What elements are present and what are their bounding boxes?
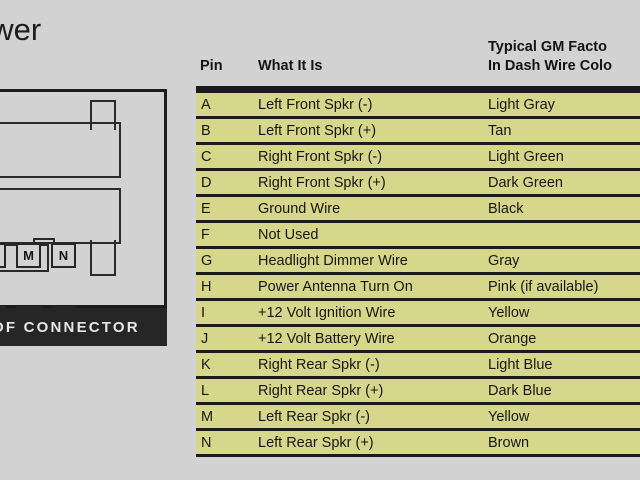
cell-wire-color: Light Blue xyxy=(488,355,553,376)
table-body: ALeft Front Spkr (-)Light GrayBLeft Fron… xyxy=(196,93,640,457)
cell-wire-color: Yellow xyxy=(488,407,529,428)
cell-what-it-is: Not Used xyxy=(258,225,318,246)
cell-wire-color: Tan xyxy=(488,121,511,142)
connector-body-bottom-outline xyxy=(0,188,121,244)
page-title: ewer xyxy=(0,12,41,48)
table-row: HPower Antenna Turn OnPink (if available… xyxy=(196,275,640,301)
column-header-what-it-is: What It Is xyxy=(258,57,322,76)
cell-what-it-is: Left Front Spkr (-) xyxy=(258,95,372,116)
table-row: DRight Front Spkr (+)Dark Green xyxy=(196,171,640,197)
connector-caption-text: OF CONNECTOR xyxy=(0,319,140,336)
cell-pin: C xyxy=(201,147,211,168)
cell-what-it-is: Right Rear Spkr (-) xyxy=(258,355,380,376)
cell-pin: F xyxy=(201,225,210,246)
cell-what-it-is: Left Rear Spkr (+) xyxy=(258,433,374,454)
cell-pin: J xyxy=(201,329,208,350)
column-header-pin: Pin xyxy=(200,57,223,76)
wire-color-table: Pin What It Is Typical GM Facto In Dash … xyxy=(196,30,640,457)
table-row: NLeft Rear Spkr (+)Brown xyxy=(196,431,640,457)
cell-what-it-is: Power Antenna Turn On xyxy=(258,277,413,298)
table-row: J+12 Volt Battery WireOrange xyxy=(196,327,640,353)
cell-pin: M xyxy=(201,407,213,428)
connector-pin-row-top: L M N xyxy=(0,243,76,268)
cell-what-it-is: Left Front Spkr (+) xyxy=(258,121,376,142)
header-divider-rule xyxy=(196,86,640,93)
table-row: GHeadlight Dimmer WireGray xyxy=(196,249,640,275)
connector-caption-bar: OF CONNECTOR xyxy=(0,308,167,346)
column-header-wire-color-line1: Typical GM Facto xyxy=(488,38,612,57)
cell-pin: L xyxy=(201,381,209,402)
cell-pin: K xyxy=(201,355,211,376)
cell-wire-color: Dark Blue xyxy=(488,381,552,402)
cell-what-it-is: Headlight Dimmer Wire xyxy=(258,251,408,272)
table-row: I+12 Volt Ignition WireYellow xyxy=(196,301,640,327)
table-row: EGround WireBlack xyxy=(196,197,640,223)
cell-what-it-is: +12 Volt Ignition Wire xyxy=(258,303,395,324)
table-row: ALeft Front Spkr (-)Light Gray xyxy=(196,93,640,119)
cell-wire-color: Pink (if available) xyxy=(488,277,598,298)
column-header-wire-color-line2: In Dash Wire Colo xyxy=(488,57,612,76)
pin-box-l: L xyxy=(0,243,6,268)
connector-notch-bottom xyxy=(90,240,116,276)
cell-pin: D xyxy=(201,173,211,194)
cell-wire-color: Black xyxy=(488,199,523,220)
cell-pin: N xyxy=(201,433,211,454)
cell-what-it-is: Left Rear Spkr (-) xyxy=(258,407,370,428)
table-row: CRight Front Spkr (-)Light Green xyxy=(196,145,640,171)
cell-wire-color: Gray xyxy=(488,251,519,272)
cell-wire-color: Dark Green xyxy=(488,173,563,194)
cell-what-it-is: Right Rear Spkr (+) xyxy=(258,381,383,402)
table-row: MLeft Rear Spkr (-)Yellow xyxy=(196,405,640,431)
page-canvas: ewer L M N H I J OF CONNECTOR Pin What I… xyxy=(0,0,640,480)
cell-what-it-is: Ground Wire xyxy=(258,199,340,220)
cell-what-it-is: Right Front Spkr (+) xyxy=(258,173,386,194)
pin-box-n: N xyxy=(51,243,76,268)
connector-body-top-outline xyxy=(0,122,121,178)
cell-pin: E xyxy=(201,199,211,220)
cell-pin: B xyxy=(201,121,211,142)
cell-wire-color: Yellow xyxy=(488,303,529,324)
cell-wire-color: Light Gray xyxy=(488,95,555,116)
cell-wire-color: Brown xyxy=(488,433,529,454)
cell-pin: G xyxy=(201,251,212,272)
cell-wire-color: Light Green xyxy=(488,147,564,168)
cell-wire-color: Orange xyxy=(488,329,536,350)
table-row: FNot Used xyxy=(196,223,640,249)
column-header-wire-color: Typical GM Facto In Dash Wire Colo xyxy=(488,38,612,76)
connector-diagram: L M N H I J xyxy=(0,89,167,308)
table-header-row: Pin What It Is Typical GM Facto In Dash … xyxy=(196,30,640,86)
cell-pin: H xyxy=(201,277,211,298)
cell-what-it-is: +12 Volt Battery Wire xyxy=(258,329,395,350)
table-row: LRight Rear Spkr (+)Dark Blue xyxy=(196,379,640,405)
pin-box-m: M xyxy=(16,243,41,268)
cell-what-it-is: Right Front Spkr (-) xyxy=(258,147,382,168)
cell-pin: I xyxy=(201,303,205,324)
connector-notch-top xyxy=(90,100,116,130)
table-row: KRight Rear Spkr (-)Light Blue xyxy=(196,353,640,379)
table-row: BLeft Front Spkr (+)Tan xyxy=(196,119,640,145)
cell-pin: A xyxy=(201,95,211,116)
